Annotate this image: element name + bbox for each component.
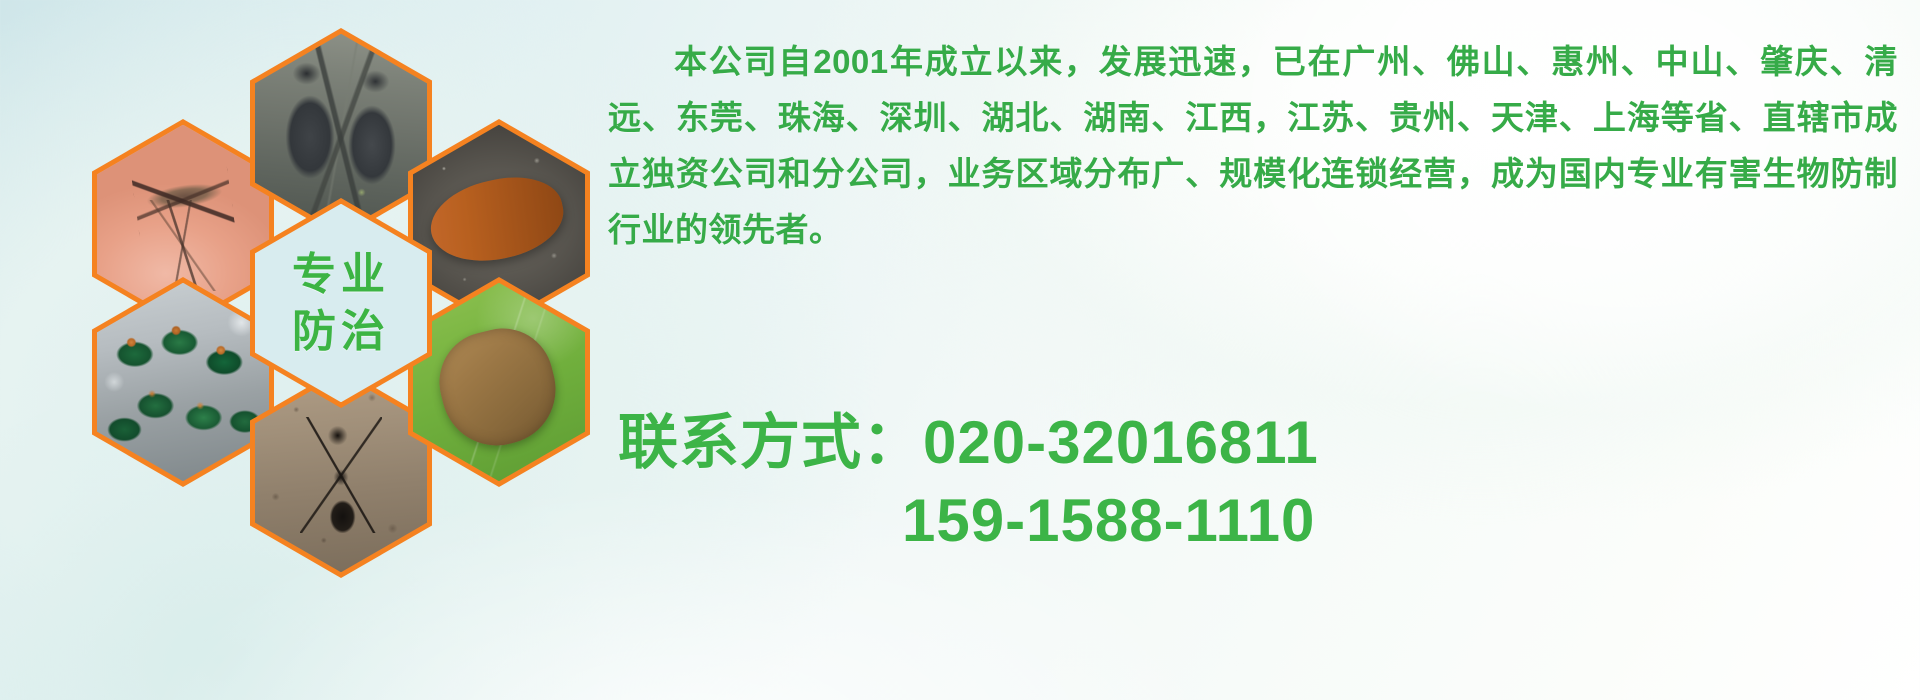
- brand-slogan-line-1: 专业: [292, 247, 390, 302]
- hexagon-photo-cluster: 专业 防治: [92, 14, 592, 574]
- brand-slogan-line-2: 防治: [292, 304, 390, 359]
- hex-photo-frame-flies: [97, 283, 269, 482]
- flies-photo: [97, 283, 269, 482]
- contact-secondary-line[interactable]: 159-1588-1110: [618, 482, 1848, 560]
- brand-slogan: 专业 防治: [255, 204, 427, 403]
- stinkbug-photo: [413, 283, 585, 482]
- company-description-block: 本公司自2001年成立以来，发展迅速，已在广州、佛山、惠州、中山、肇庆、清远、东…: [608, 34, 1898, 258]
- hex-cell-stinkbug: [408, 277, 590, 487]
- hex-photo-frame-stinkbug: [413, 283, 585, 482]
- banner-root: 专业 防治 本公司自2001年成立以来，发展迅速，已在广州、佛山、惠州、中山、肇…: [0, 0, 1920, 700]
- hex-cell-brand-label: 专业 防治: [250, 198, 432, 408]
- contact-primary-line[interactable]: 联系方式：020-32016811: [618, 404, 1848, 482]
- hex-brand-frame: 专业 防治: [255, 204, 427, 403]
- company-description-text: 本公司自2001年成立以来，发展迅速，已在广州、佛山、惠州、中山、肇庆、清远、东…: [608, 34, 1898, 258]
- contact-block: 联系方式：020-32016811 159-1588-1110: [618, 404, 1848, 560]
- hex-cell-flies: [92, 277, 274, 487]
